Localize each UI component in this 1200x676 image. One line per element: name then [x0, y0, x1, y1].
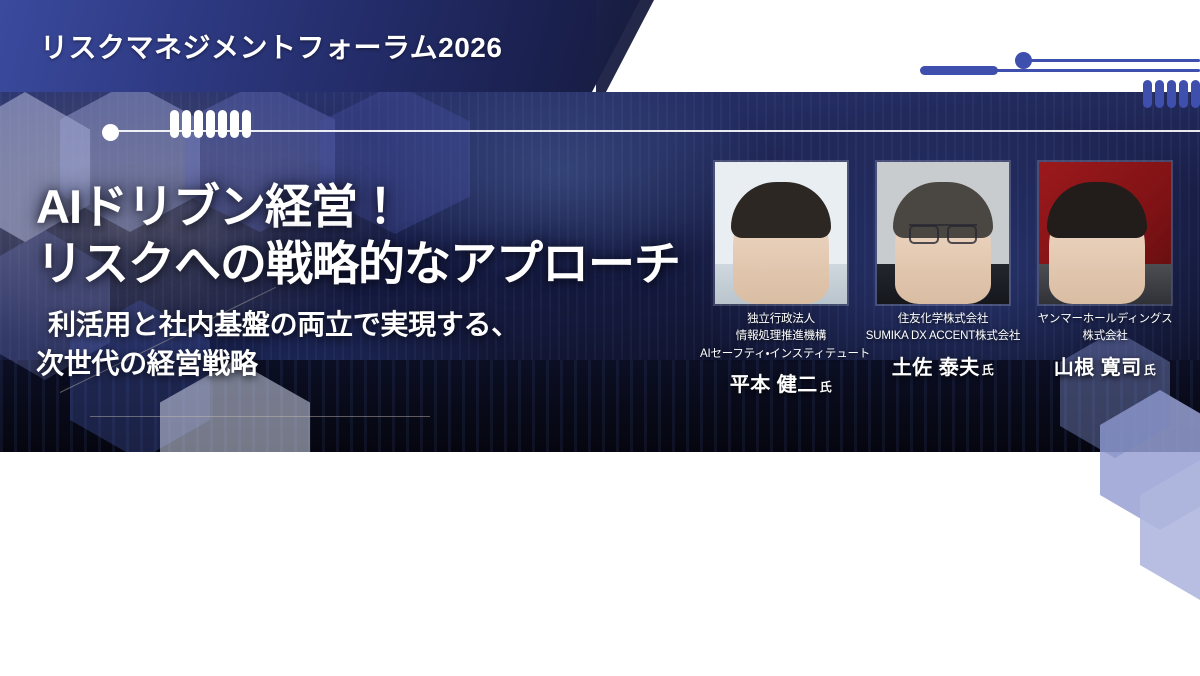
speaker-org-line-2: 株式会社: [1024, 328, 1186, 345]
speaker-name-row: 平本 健二氏: [700, 368, 862, 397]
dot-decoration: [102, 124, 119, 141]
subheadline-block: 利活用と社内基盤の両立で実現する、 次世代の経営戦略: [36, 305, 680, 385]
headline-block: AIドリブン経営！ リスクへの戦略的なアプローチ 利活用と社内基盤の両立で実現す…: [36, 178, 680, 384]
subheadline-line-2: 次世代の経営戦略: [36, 344, 680, 384]
accent-bar-decoration: [920, 66, 998, 75]
hero-banner: リスクマネジメントフォーラム2026 AIドリブン経営！ リスクへの戦略的なアプ…: [0, 0, 1200, 452]
speaker-organization: ヤンマーホールディングス 株式会社: [1024, 311, 1186, 346]
speaker-name-row: 土佐 泰夫氏: [862, 351, 1024, 380]
speaker-name: 土佐 泰夫: [892, 357, 980, 379]
speaker-card: 住友化学株式会社 SUMIKA DX ACCENT株式会社 土佐 泰夫氏: [862, 162, 1024, 407]
tick-bars-decoration: [170, 110, 251, 138]
headline-line-2: リスクへの戦略的なアプローチ: [36, 235, 680, 292]
diagonal-line-decoration: [90, 416, 430, 417]
speaker-name: 山根 寛司: [1054, 357, 1142, 379]
subheadline-line-1: 利活用と社内基盤の両立で実現する、: [36, 305, 680, 345]
speaker-organization: 住友化学株式会社 SUMIKA DX ACCENT株式会社: [862, 311, 1024, 346]
speaker-card: ヤンマーホールディングス 株式会社 山根 寛司氏: [1024, 162, 1186, 407]
line-decoration: [112, 130, 1200, 132]
tick-bars-decoration: [1143, 80, 1200, 108]
speaker-list: 独立行政法人 情報処理推進機構 AIセーフティ・インスティテュート 平本 健二氏…: [700, 162, 1188, 407]
speaker-photo: [715, 162, 847, 304]
headline-line-1: AIドリブン経営！: [36, 178, 680, 235]
speaker-card: 独立行政法人 情報処理推進機構 AIセーフティ・インスティテュート 平本 健二氏: [700, 162, 862, 407]
speaker-organization: 独立行政法人 情報処理推進機構 AIセーフティ・インスティテュート: [700, 311, 862, 363]
speaker-name-suffix: 氏: [1144, 363, 1157, 377]
speaker-org-line-1: 独立行政法人: [700, 311, 862, 328]
accent-line-decoration: [1030, 59, 1200, 62]
event-info-section: [0, 452, 1200, 676]
speaker-org-line-3: AIセーフティ・インスティテュート: [700, 346, 862, 363]
page-title: リスクマネジメントフォーラム2026: [40, 26, 502, 66]
poster-page: リスクマネジメントフォーラム2026 AIドリブン経営！ リスクへの戦略的なアプ…: [0, 0, 1200, 676]
accent-line-decoration: [995, 69, 1200, 72]
speaker-org-line-1: 住友化学株式会社: [862, 311, 1024, 328]
speaker-photo: [877, 162, 1009, 304]
speaker-org-line-2: 情報処理推進機構: [700, 328, 862, 345]
speaker-name-suffix: 氏: [982, 363, 995, 377]
speaker-name-suffix: 氏: [820, 380, 833, 394]
speaker-org-line-2: SUMIKA DX ACCENT株式会社: [862, 328, 1024, 345]
speaker-org-line-1: ヤンマーホールディングス: [1024, 311, 1186, 328]
speaker-name-row: 山根 寛司氏: [1024, 351, 1186, 380]
speaker-photo: [1039, 162, 1171, 304]
speaker-name: 平本 健二: [730, 374, 818, 396]
